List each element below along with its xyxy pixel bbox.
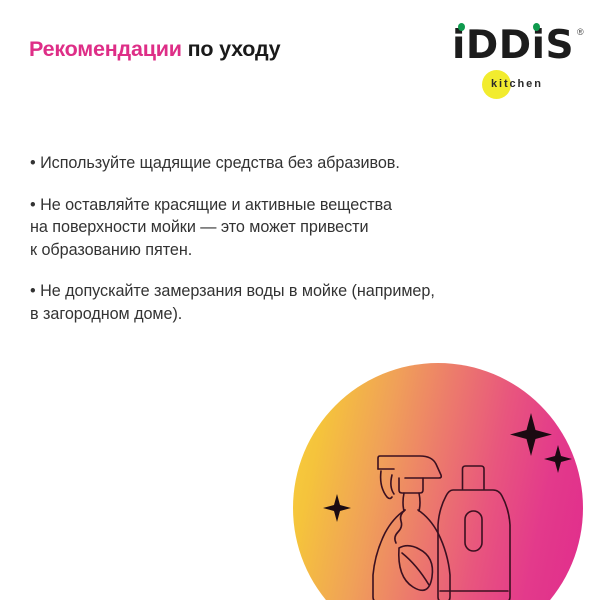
page-title-accent: Рекомендации (29, 37, 182, 61)
logo-dot-icon-second (533, 23, 540, 31)
page-title-rest: по уходу (182, 37, 281, 61)
card-header: Рекомендации по уходу iDDiS ® kitchen (0, 0, 600, 110)
list-item: • Используйте щадящие средства без абраз… (30, 152, 530, 175)
logo-wordmark-text: iDDiS (452, 26, 574, 66)
cleaning-products-artwork (293, 363, 583, 600)
sparkle-small-icon (544, 445, 572, 473)
care-instructions-card: Рекомендации по уходу iDDiS ® kitchen • … (0, 0, 600, 600)
sparkle-group (323, 413, 572, 522)
sparkle-large-icon (510, 413, 552, 456)
page-title: Рекомендации по уходу (29, 36, 280, 62)
logo-sub-label: kitchen (482, 70, 582, 100)
list-item: • Не допускайте замерзания воды в мойке … (30, 280, 530, 325)
logo-dot-icon-first (458, 23, 465, 31)
detergent-bottle-icon (438, 466, 510, 600)
sparkle-tiny-icon (323, 494, 351, 522)
iddis-logo: iDDiS ® kitchen (452, 18, 588, 100)
care-instructions-list: • Используйте щадящие средства без абраз… (30, 152, 530, 325)
list-item: • Не оставляйте красящие и активные веще… (30, 194, 530, 262)
registered-trademark-icon: ® (577, 28, 584, 37)
illustration-container (293, 363, 583, 600)
logo-wordmark: iDDiS ® (452, 26, 574, 66)
line-art-group (323, 413, 572, 600)
logo-sub-label-text: kitchen (491, 77, 543, 91)
